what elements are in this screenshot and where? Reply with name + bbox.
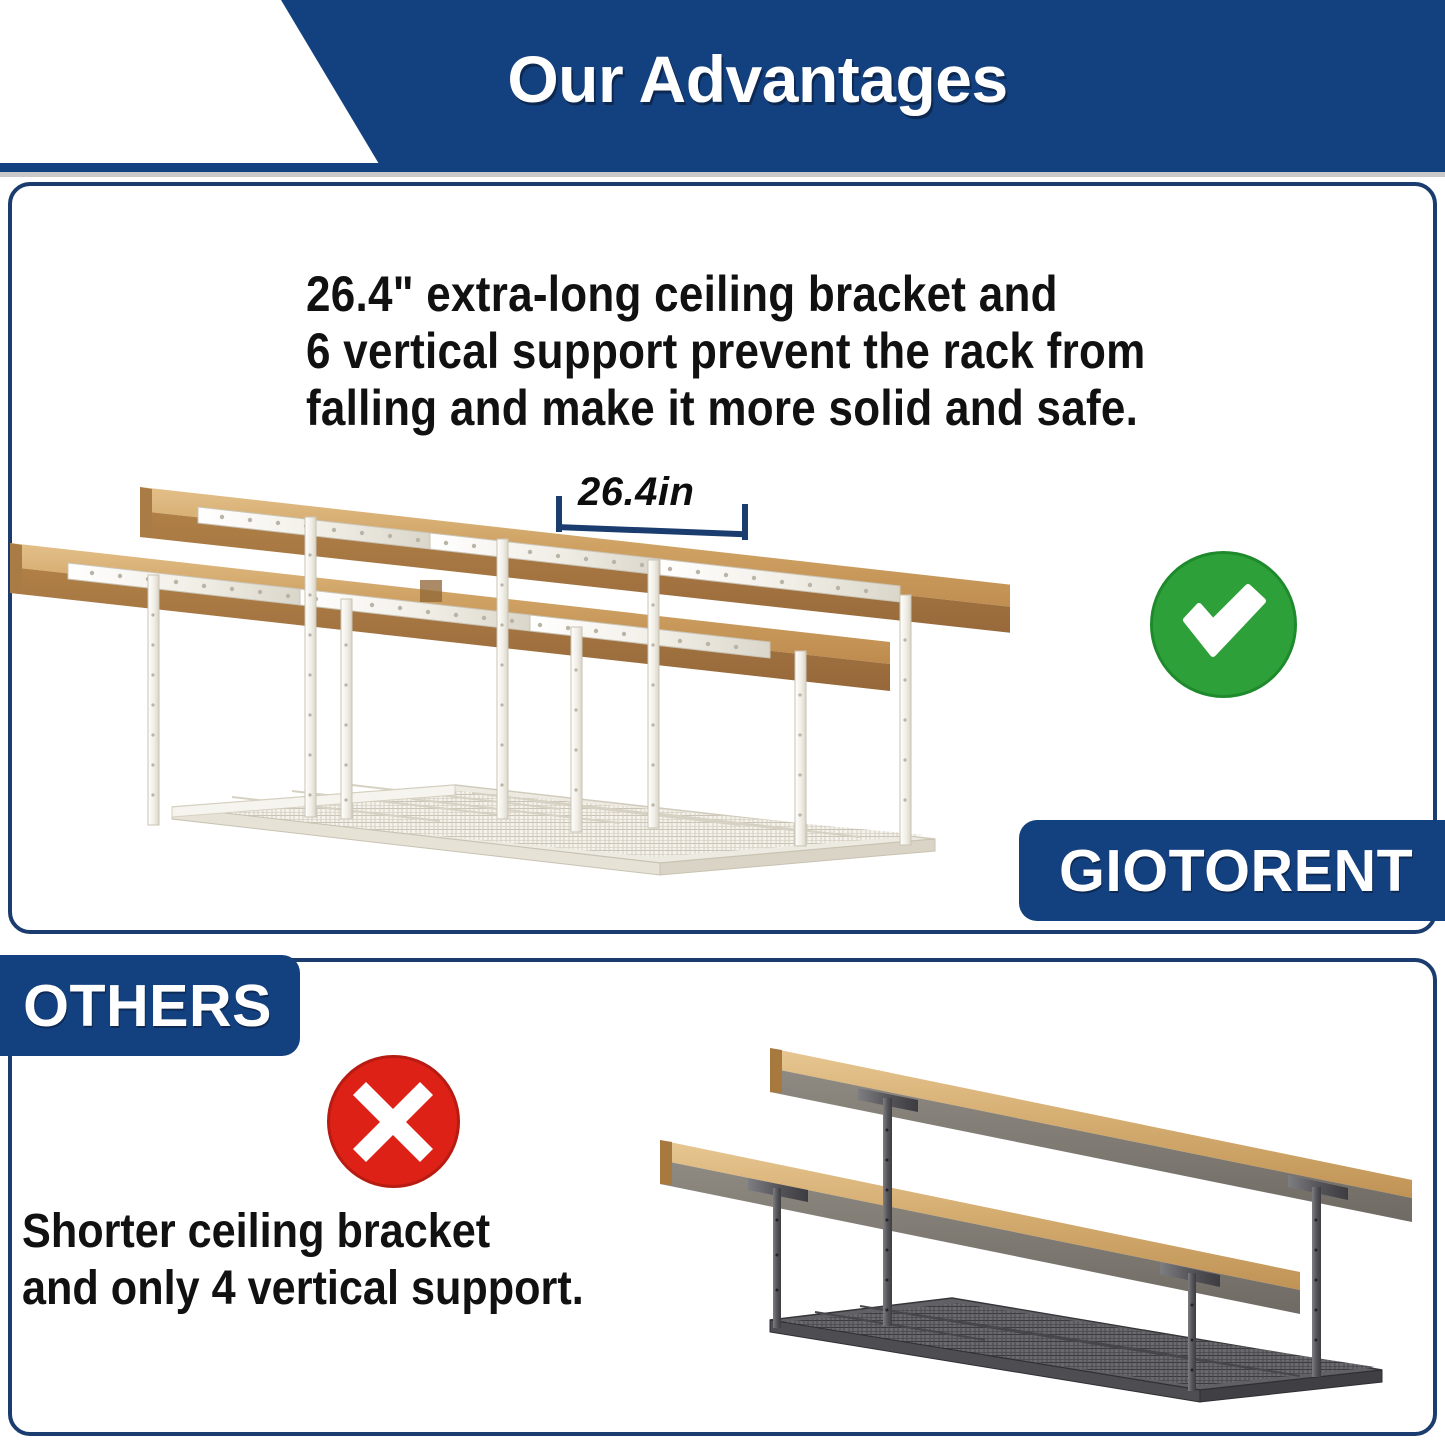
advantage-line-3: falling and make it more solid and safe. bbox=[306, 380, 1296, 437]
dimension-label: 26.4in bbox=[578, 470, 694, 515]
others-line-2: and only 4 vertical support. bbox=[22, 1260, 832, 1317]
rack-deck-dark bbox=[770, 1298, 1382, 1402]
dimension-callout: 26.4in bbox=[548, 476, 758, 538]
dimension-cap-left bbox=[556, 496, 562, 532]
white-rack-illustration bbox=[0, 455, 1010, 935]
page-title: Our Advantages bbox=[0, 46, 1445, 112]
cross-circle-icon bbox=[327, 1055, 460, 1188]
brand-badge-giotorent: GIOTORENT bbox=[1019, 820, 1445, 921]
check-circle-icon bbox=[1150, 551, 1297, 698]
infographic-canvas: Our Advantages 26.4" extra-long ceiling … bbox=[0, 0, 1445, 1445]
advantage-description: 26.4" extra-long ceiling bracket and 6 v… bbox=[306, 266, 1296, 437]
header-divider-gray bbox=[0, 172, 1445, 177]
others-description: Shorter ceiling bracket and only 4 verti… bbox=[22, 1203, 832, 1317]
advantage-line-1: 26.4" extra-long ceiling bracket and bbox=[306, 266, 1296, 323]
dimension-line bbox=[556, 524, 748, 537]
brand-badge-label: GIOTORENT bbox=[1059, 837, 1413, 905]
rack-deck bbox=[172, 785, 935, 875]
others-line-1: Shorter ceiling bracket bbox=[22, 1203, 832, 1260]
dimension-cap-right bbox=[742, 504, 748, 540]
advantage-line-2: 6 vertical support prevent the rack from bbox=[306, 323, 1296, 380]
header-divider-blue bbox=[0, 163, 1445, 172]
others-badge: OTHERS bbox=[0, 955, 300, 1056]
others-badge-label: OTHERS bbox=[23, 972, 272, 1040]
